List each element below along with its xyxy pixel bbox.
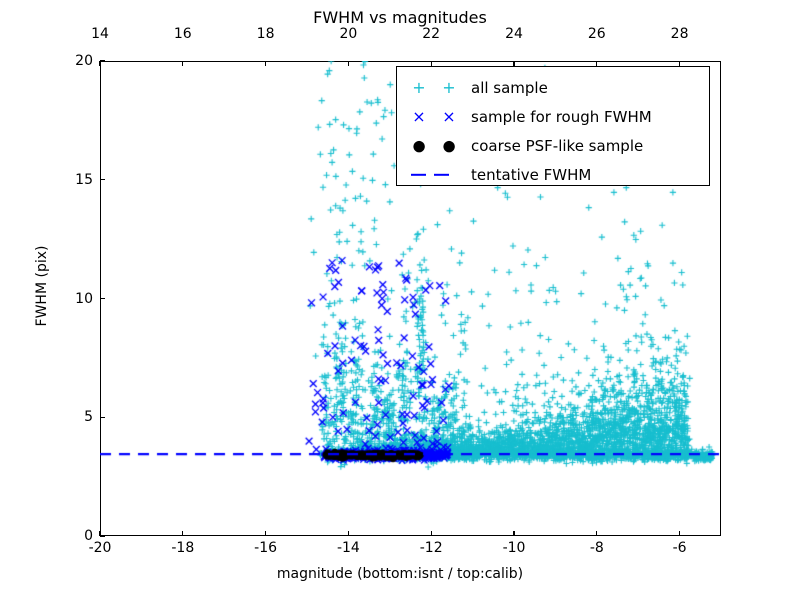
x-ticklabel-top: 28 — [671, 26, 689, 42]
legend-label-all-sample: all sample — [471, 79, 548, 97]
y-tick — [100, 417, 105, 418]
y-tick — [100, 60, 105, 61]
x-ticklabel-bottom: -10 — [503, 540, 526, 556]
x-ticklabel-top: 20 — [339, 26, 357, 42]
x-tick-top — [265, 61, 266, 66]
legend-handle-tentative-fwhm — [397, 160, 471, 189]
legend: + + all sample × × sample for rough FWHM… — [396, 66, 710, 186]
dashed-line-icon — [411, 173, 426, 175]
chart-title: FWHM vs magnitudes — [0, 8, 800, 27]
dot-marker-icon: ● — [442, 138, 455, 153]
x-ticklabel-top: 24 — [505, 26, 523, 42]
figure: FWHM vs magnitudes -20-18-16-14-12-10-8-… — [0, 0, 800, 600]
y-ticklabel: 5 — [84, 409, 93, 425]
x-tick-bottom — [348, 531, 349, 536]
legend-handle-coarse-psf: ● ● — [397, 131, 471, 160]
x-ticklabel-top: 14 — [91, 26, 109, 42]
x-tick-bottom — [596, 531, 597, 536]
x-tick-top — [182, 61, 183, 66]
legend-label-coarse-psf: coarse PSF-like sample — [471, 137, 643, 155]
x-ticklabel-bottom: -6 — [673, 540, 687, 556]
dot-marker-icon: ● — [412, 138, 425, 153]
legend-handle-rough-fwhm: × × — [397, 102, 471, 131]
x-ticklabel-top: 26 — [588, 26, 606, 42]
x-ticklabel-bottom: -16 — [254, 540, 277, 556]
x-ticklabel-bottom: -18 — [171, 540, 194, 556]
legend-item-coarse-psf: ● ● coarse PSF-like sample — [397, 131, 709, 160]
x-tick-top — [348, 61, 349, 66]
y-ticklabel: 20 — [75, 53, 93, 69]
x-tick-bottom — [182, 531, 183, 536]
x-tick-bottom — [513, 531, 514, 536]
dashed-line-icon — [434, 173, 449, 175]
legend-label-tentative-fwhm: tentative FWHM — [471, 166, 591, 184]
legend-item-all-sample: + + all sample — [397, 73, 709, 102]
x-ticklabel-bottom: -8 — [590, 540, 604, 556]
plus-marker-icon: + — [412, 80, 425, 96]
x-tick-bottom — [679, 531, 680, 536]
cross-marker-icon: × — [442, 109, 455, 125]
x-ticklabel-bottom: -14 — [337, 540, 360, 556]
x-ticklabel-top: 16 — [174, 26, 192, 42]
x-ticklabel-bottom: -12 — [420, 540, 443, 556]
y-axis-label: FWHM (pix) — [34, 206, 50, 366]
x-tick-bottom — [265, 531, 266, 536]
cross-marker-icon: × — [412, 109, 425, 125]
x-ticklabel-top: 22 — [422, 26, 440, 42]
legend-handle-all-sample: + + — [397, 73, 471, 102]
x-tick-top — [99, 61, 100, 66]
plus-marker-icon: + — [442, 80, 455, 96]
legend-item-tentative-fwhm: tentative FWHM — [397, 160, 709, 189]
x-tick-bottom — [431, 531, 432, 536]
y-tick — [100, 535, 105, 536]
y-ticklabel: 0 — [84, 528, 93, 544]
y-tick — [100, 179, 105, 180]
y-ticklabel: 10 — [75, 291, 93, 307]
y-tick — [100, 298, 105, 299]
legend-item-rough-fwhm: × × sample for rough FWHM — [397, 102, 709, 131]
x-ticklabel-top: 18 — [257, 26, 275, 42]
legend-label-rough-fwhm: sample for rough FWHM — [471, 108, 652, 126]
y-ticklabel: 15 — [75, 172, 93, 188]
x-axis-label: magnitude (bottom:isnt / top:calib) — [0, 566, 800, 582]
